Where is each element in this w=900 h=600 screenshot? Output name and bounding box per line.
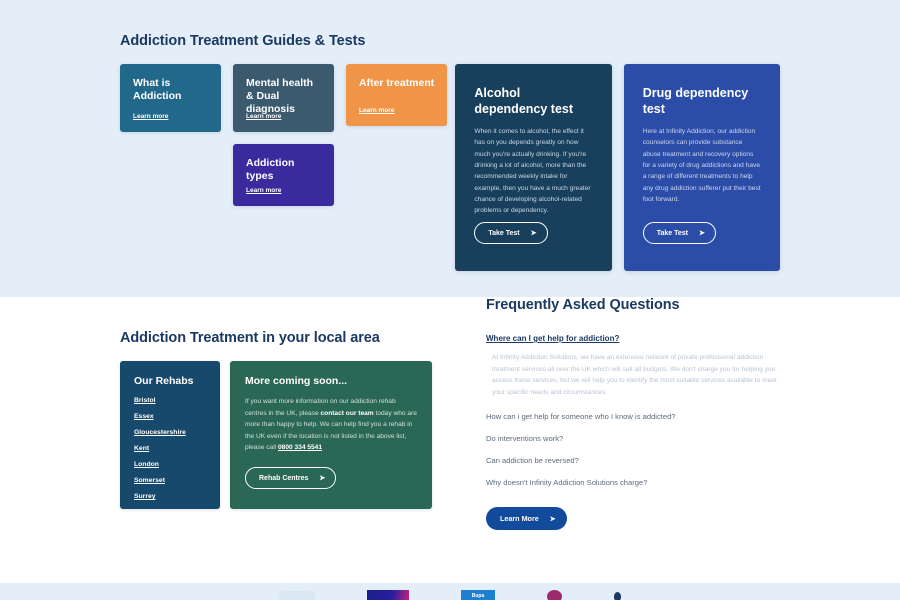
- partner-logo-1: [279, 589, 315, 600]
- faq-question-4[interactable]: Why doesn't Infinity Addiction Solutions…: [486, 478, 780, 487]
- rehab-location-kent[interactable]: Kent: [134, 445, 220, 452]
- rehab-location-bristol[interactable]: Bristol: [134, 397, 220, 404]
- rehab-location-london[interactable]: London: [134, 461, 220, 468]
- faq-answer: At Infinity Addiction Solutions, we have…: [492, 352, 780, 399]
- more-coming-soon-title: More coming soon...: [245, 375, 417, 387]
- guide-card-after-treatment[interactable]: After treatment Learn more: [346, 64, 447, 126]
- partner-logo-2: [367, 589, 409, 600]
- take-test-label: Take Test: [657, 230, 688, 237]
- our-rehabs-title: Our Rehabs: [134, 375, 220, 387]
- faq-learn-more-button[interactable]: Learn More ➤: [486, 507, 567, 530]
- test-card-body: When it comes to alcohol, the effect it …: [474, 126, 592, 217]
- guides-grid: What is Addiction Learn more Mental heal…: [120, 64, 780, 271]
- guide-cards-column: What is Addiction Learn more Mental heal…: [120, 64, 443, 209]
- more-coming-soon-body: If you want more information on our addi…: [245, 396, 417, 454]
- dot-logo-icon: [614, 592, 621, 600]
- test-card-title: Alcohol dependency test: [474, 85, 592, 117]
- guide-card-learn-more-link[interactable]: Learn more: [246, 187, 281, 194]
- rehab-centres-label: Rehab Centres: [259, 475, 308, 482]
- guides-inner: Addiction Treatment Guides & Tests What …: [120, 0, 780, 271]
- circle-logo-icon: [547, 590, 562, 600]
- local-area-column: Addiction Treatment in your local area O…: [120, 297, 460, 530]
- guide-card-learn-more-link[interactable]: Learn more: [133, 113, 168, 120]
- partner-logo-5: [614, 589, 621, 600]
- local-cards-row: Our Rehabs Bristol Essex Gloucestershire…: [120, 361, 460, 509]
- take-test-label: Take Test: [488, 230, 519, 237]
- take-test-button-drug[interactable]: Take Test ➤: [643, 222, 716, 244]
- rehab-location-gloucestershire[interactable]: Gloucestershire: [134, 429, 220, 436]
- page-title: Addiction Treatment Guides & Tests: [120, 0, 780, 49]
- guide-card-title: After treatment: [359, 77, 436, 90]
- guide-card-title: Mental health & Dual diagnosis: [246, 77, 323, 116]
- cloud-logo-icon: [279, 591, 315, 600]
- arrow-right-icon: ➤: [699, 229, 705, 237]
- faq-question-2[interactable]: Do interventions work?: [486, 434, 780, 443]
- test-card-title: Drug dependency test: [643, 85, 761, 117]
- partner-logo-4: [547, 589, 562, 600]
- more-coming-soon-card: More coming soon... If you want more inf…: [230, 361, 432, 509]
- faq-question-open[interactable]: Where can I get help for addiction?: [486, 334, 780, 343]
- guide-card-learn-more-link[interactable]: Learn more: [246, 113, 281, 120]
- guide-card-title: What is Addiction: [133, 77, 210, 103]
- alcohol-dependency-test-card[interactable]: Alcohol dependency test When it comes to…: [455, 64, 611, 271]
- local-faq-inner: Addiction Treatment in your local area O…: [120, 297, 780, 530]
- our-rehabs-card: Our Rehabs Bristol Essex Gloucestershire…: [120, 361, 220, 509]
- rehab-location-essex[interactable]: Essex: [134, 413, 220, 420]
- local-and-faq-section: Addiction Treatment in your local area O…: [0, 297, 900, 583]
- guide-card-mental-health[interactable]: Mental health & Dual diagnosis Learn mor…: [233, 64, 334, 132]
- rehab-centres-button[interactable]: Rehab Centres ➤: [245, 467, 336, 489]
- arrow-right-icon: ➤: [319, 474, 325, 482]
- rehab-location-surrey[interactable]: Surrey: [134, 493, 220, 500]
- guide-card-title: Addiction types: [246, 157, 323, 183]
- guide-card-addiction-types[interactable]: Addiction types Learn more: [233, 144, 334, 206]
- partner-logo-3: Bupa: [461, 589, 495, 600]
- guides-section: Addiction Treatment Guides & Tests What …: [0, 0, 900, 297]
- faq-column: Frequently Asked Questions Where can I g…: [460, 297, 780, 530]
- drug-dependency-test-card[interactable]: Drug dependency test Here at Infinity Ad…: [624, 64, 780, 271]
- footer-logo-strip: Bupa: [0, 583, 900, 600]
- faq-heading: Frequently Asked Questions: [486, 297, 780, 313]
- arrow-right-icon: ➤: [531, 229, 537, 237]
- faq-question-1[interactable]: How can i get help for someone who I kno…: [486, 412, 780, 421]
- guide-card-what-is-addiction[interactable]: What is Addiction Learn more: [120, 64, 221, 132]
- gradient-rect-logo-icon: [367, 590, 409, 600]
- lower-columns: Addiction Treatment in your local area O…: [120, 297, 780, 530]
- contact-our-team-link[interactable]: contact our team: [321, 410, 374, 417]
- faq-question-3[interactable]: Can addiction be reversed?: [486, 456, 780, 465]
- take-test-button-alcohol[interactable]: Take Test ➤: [474, 222, 547, 244]
- blue-box-logo-icon: Bupa: [461, 590, 495, 600]
- local-area-heading: Addiction Treatment in your local area: [120, 297, 460, 346]
- phone-number-link[interactable]: 0800 334 5541: [278, 444, 322, 451]
- footer-logos-row: Bupa: [0, 589, 900, 600]
- learn-more-label: Learn More: [500, 514, 539, 523]
- arrow-right-icon: ➤: [550, 514, 556, 523]
- guide-card-learn-more-link[interactable]: Learn more: [359, 107, 394, 114]
- test-card-body: Here at Infinity Addiction, our addictio…: [643, 126, 761, 205]
- rehab-location-somerset[interactable]: Somerset: [134, 477, 220, 484]
